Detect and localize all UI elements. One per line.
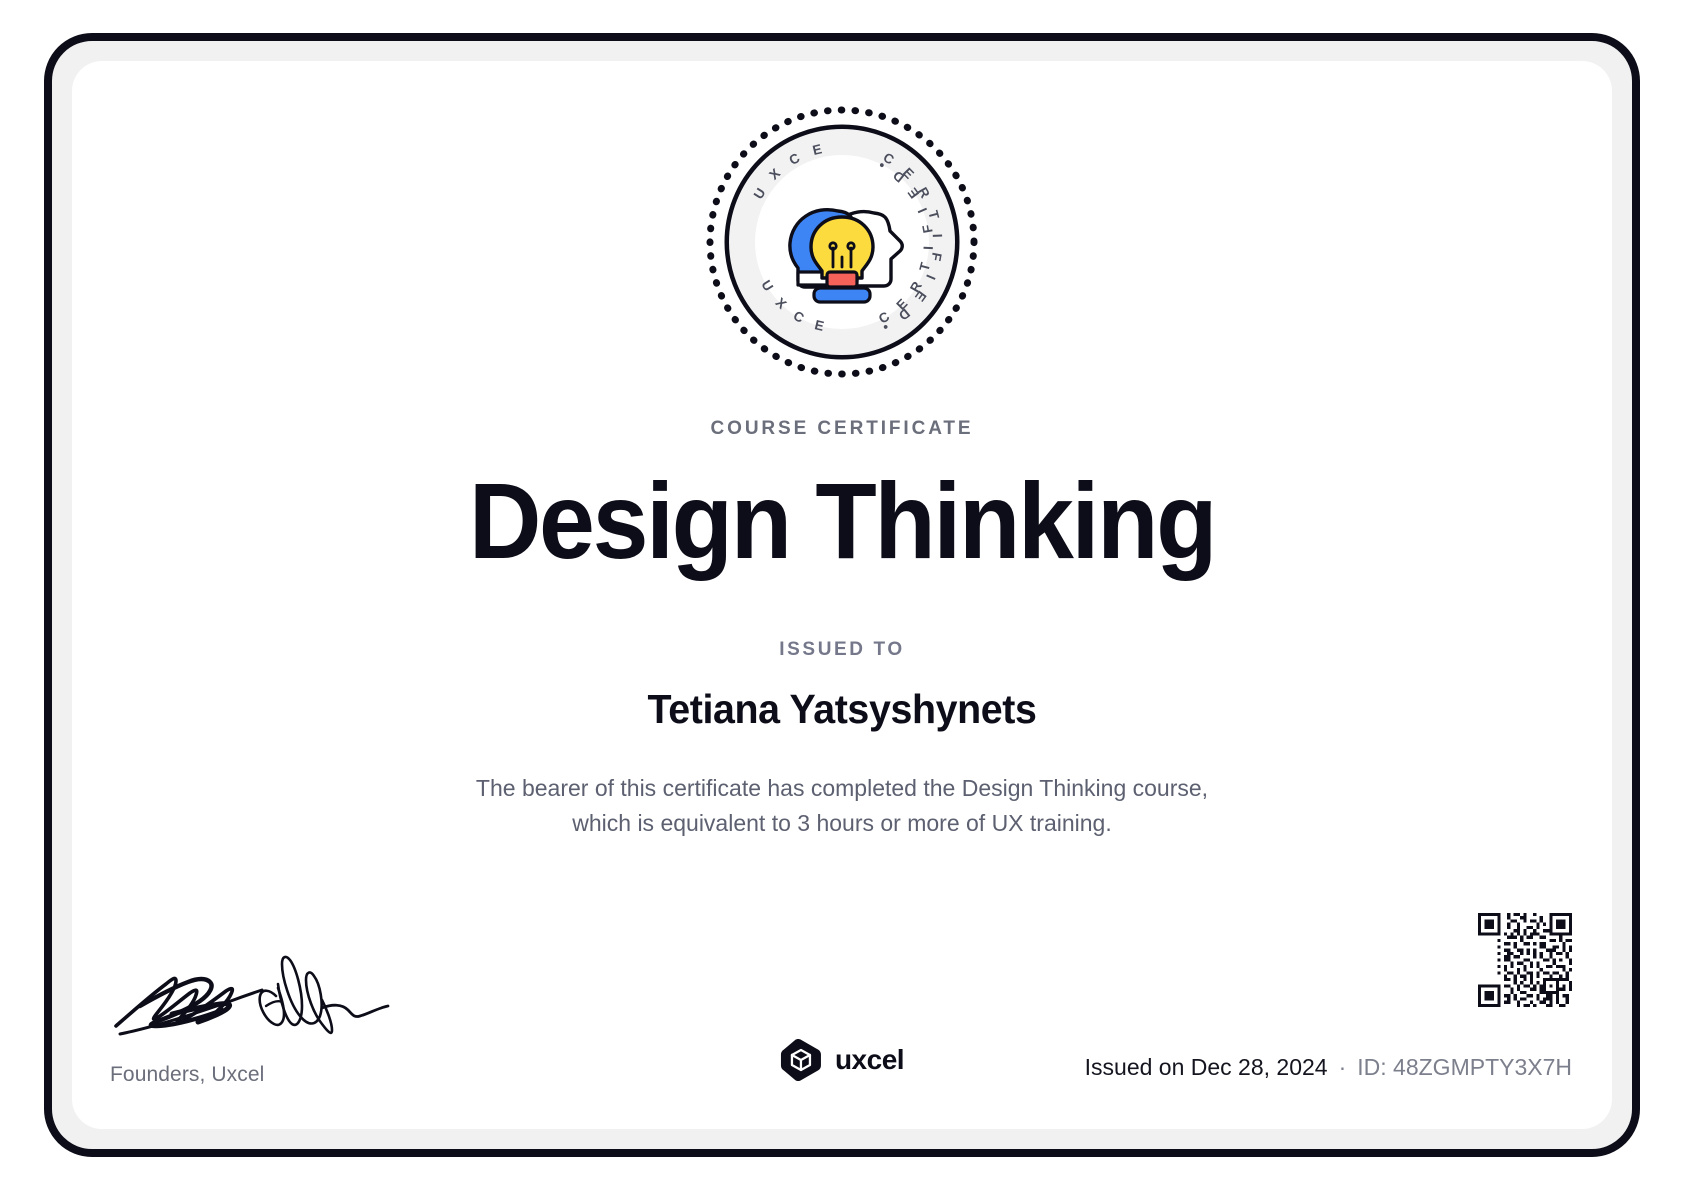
founders-signature-image xyxy=(110,954,400,1049)
certificate-meta: Issued on Dec 28, 2024 · ID: 48ZGMPTY3X7… xyxy=(1085,1054,1572,1081)
uxcel-brand-name: uxcel xyxy=(835,1044,904,1076)
certificate-description: The bearer of this certificate has compl… xyxy=(72,771,1612,841)
recipient-name: Tetiana Yatsyshynets xyxy=(103,686,1581,733)
certificate-card: C E R T I F I E D • U X C E L C E R T I … xyxy=(72,61,1612,1129)
course-certificate-eyebrow: COURSE CERTIFICATE xyxy=(72,418,1612,440)
signature-caption: Founders, Uxcel xyxy=(110,1063,440,1087)
uxcel-brand: uxcel xyxy=(780,1039,904,1081)
description-line-2: which is equivalent to 3 hours or more o… xyxy=(72,806,1612,841)
certificate-id: ID: 48ZGMPTY3X7H xyxy=(1357,1054,1572,1081)
certification-seal: C E R T I F I E D • U X C E L C E R T I … xyxy=(703,103,981,381)
issued-to-eyebrow: ISSUED TO xyxy=(72,639,1612,661)
description-line-1: The bearer of this certificate has compl… xyxy=(72,771,1612,806)
lightbulb-base-red xyxy=(827,272,857,287)
issue-date: Issued on Dec 28, 2024 xyxy=(1085,1054,1328,1081)
certificate-frame: C E R T I F I E D • U X C E L C E R T I … xyxy=(44,33,1640,1157)
verification-qr-code[interactable] xyxy=(1478,913,1572,1007)
signature-block: Founders, Uxcel xyxy=(110,954,440,1087)
lightbulb-platform-blue xyxy=(814,288,870,302)
uxcel-cube-logo-icon xyxy=(780,1039,822,1081)
certificate-footer: Founders, Uxcel uxcel xyxy=(72,889,1612,1129)
lightbulb-glass xyxy=(811,217,873,278)
meta-separator: · xyxy=(1339,1054,1347,1081)
page-title: Design Thinking xyxy=(126,466,1558,576)
